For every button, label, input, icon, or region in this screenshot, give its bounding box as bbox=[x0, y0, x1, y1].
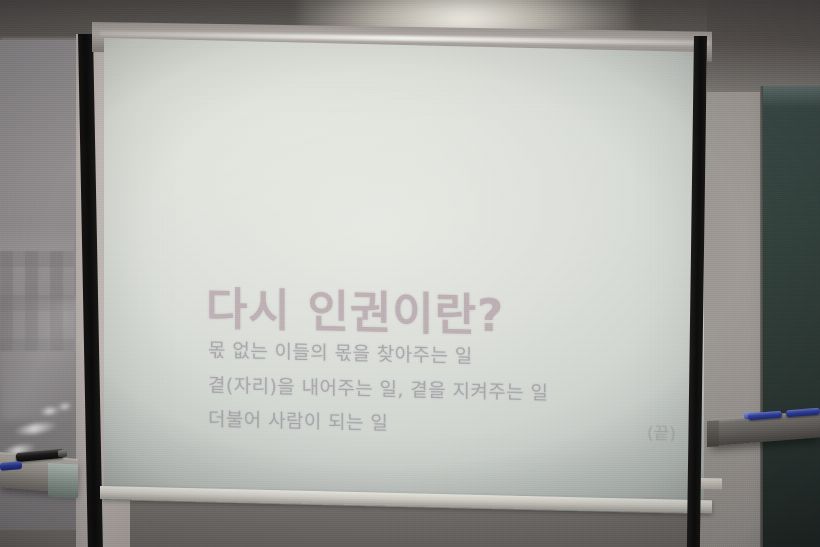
slide-body-line: 몫 없는 이들의 몫을 찾아주는 일 bbox=[208, 335, 473, 368]
window-sheen bbox=[0, 300, 80, 420]
room-photo-scene: 다시 인권이란? 몫 없는 이들의 몫을 찾아주는 일 곁(자리)을 내어주는 … bbox=[0, 0, 820, 547]
slide-body-line: 더불어 사람이 되는 일 bbox=[208, 404, 388, 435]
black-marker-cap bbox=[58, 450, 68, 458]
projection-screen-bar-tip bbox=[700, 478, 722, 489]
slide-end-marker: (끝) bbox=[647, 419, 676, 445]
right-glass-top-sheen bbox=[763, 86, 820, 108]
slide-body-line: 곁(자리)을 내어주는 일, 곁을 지켜주는 일 bbox=[208, 370, 548, 405]
projected-slide: 다시 인권이란? 몫 없는 이들의 몫을 찾아주는 일 곁(자리)을 내어주는 … bbox=[104, 38, 704, 514]
slide-title: 다시 인권이란? bbox=[206, 272, 504, 344]
right-tray-end-cap bbox=[707, 420, 719, 447]
right-teal-glass-panel bbox=[763, 86, 820, 547]
left-tray-end-block bbox=[48, 463, 78, 499]
wall-upper-right bbox=[707, 0, 820, 92]
